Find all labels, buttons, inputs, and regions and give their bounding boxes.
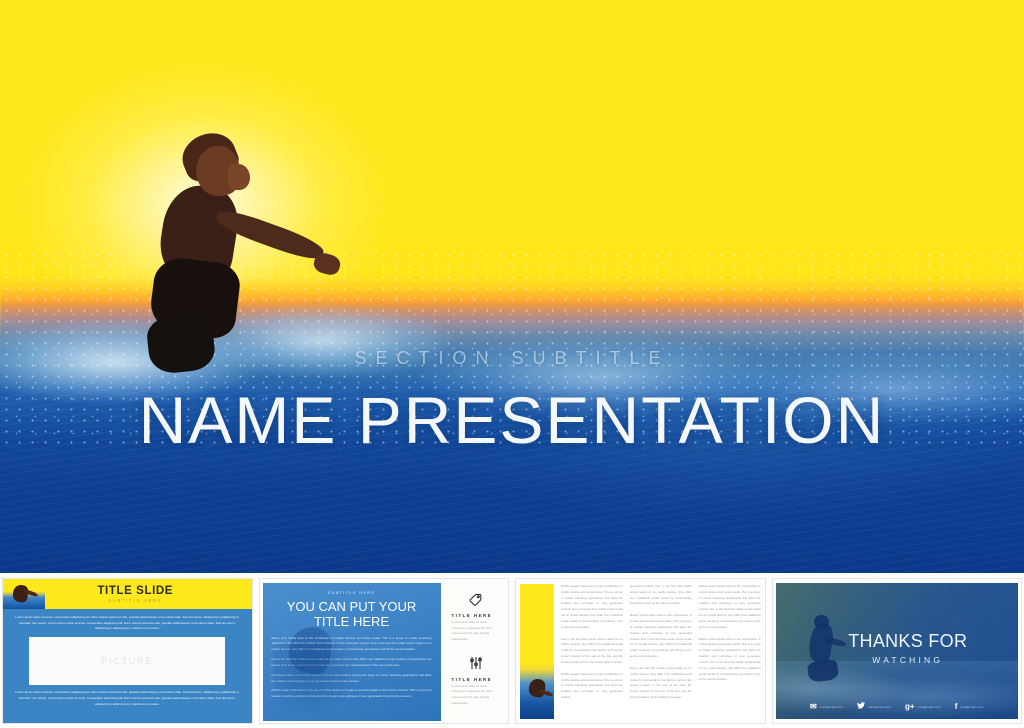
tag-icon <box>452 589 500 609</box>
surfer-thumb-icon <box>3 579 45 609</box>
column-paragraph: Due to the fact that mobile social media… <box>561 637 623 666</box>
thumbnail-thanks-slide[interactable]: THANKS FOR WATCHING ✉ mail@mail.com mail… <box>772 578 1023 724</box>
yellow-sidebar <box>520 584 554 719</box>
feature-card-text: Lorem ipsum dolor sit amet, consectetur … <box>452 684 500 707</box>
content-paragraph: Mobile social media refers to the use of… <box>272 688 432 700</box>
surfer-watermark-icon <box>286 624 334 675</box>
presentation-template-preview: SECTION SUBTITLE NAME PRESENTATION TITLE… <box>0 0 1024 728</box>
column-paragraph: Mobile social media refers to the combin… <box>561 672 623 701</box>
column-paragraph: Mobile social media refers to the combin… <box>561 584 623 631</box>
picture-placeholder[interactable]: PICTURE <box>29 637 225 685</box>
mail-icon: ✉ <box>810 703 817 711</box>
thanks-title: THANKS FOR <box>776 631 1019 652</box>
feature-card-text: Lorem ipsum dolor sit amet, consectetur … <box>452 620 500 643</box>
social-link-facebook[interactable]: f mail@mail.com <box>955 703 984 711</box>
thanks-slide-body: THANKS FOR WATCHING ✉ mail@mail.com mail… <box>776 583 1019 719</box>
text-column: Mobile social media refers to the combin… <box>561 584 623 719</box>
content-paragraph: Due to the fact that mobile social media… <box>272 657 432 669</box>
text-columns-body: Mobile social media refers to the combin… <box>516 579 765 723</box>
twitter-icon <box>857 702 865 711</box>
surfer-sidebar-icon <box>528 678 546 698</box>
content-slide-sidebar: TITLE HERE Lorem ipsum dolor sit amet, c… <box>445 583 507 721</box>
content-paragraph: Providing mobile social media devices su… <box>272 673 432 685</box>
title-slide-body: Lorem ipsum dolor sit amet, consectetur … <box>3 609 252 723</box>
text-column: generated content. Due to the fact that … <box>630 584 692 719</box>
column-paragraph: generated content. Due to the fact that … <box>630 584 692 607</box>
thumbnail-text-columns-slide[interactable]: Mobile social media refers to the combin… <box>515 578 766 724</box>
surfer-silhouette-icon <box>118 120 368 370</box>
content-slide-subtitle: SUBTITLE HERE <box>272 591 432 595</box>
title-slide-header: TITLE SLIDE SUBTITLE HERE <box>3 579 252 609</box>
feature-card[interactable]: TITLE HERE Lorem ipsum dolor sit amet, c… <box>452 589 500 643</box>
title-slide-subtitle: SUBTITLE HERE <box>45 598 226 603</box>
social-link-mail[interactable]: ✉ mail@mail.com <box>810 703 843 711</box>
title-slide-paragraph-top: Lorem ipsum dolor sit amet, consectetur … <box>13 615 242 632</box>
content-slide-title: YOU CAN PUT YOUR TITLE HERE <box>272 599 432 630</box>
feature-card-heading: TITLE HERE <box>452 613 500 618</box>
social-links: ✉ mail@mail.com mail@mail.com g+ mail@ma… <box>776 702 1019 711</box>
thumbnail-content-slide[interactable]: SUBTITLE HERE YOU CAN PUT YOUR TITLE HER… <box>259 578 510 724</box>
title-slide-paragraph-bottom: Lorem ipsum dolor sit amet, consectetur … <box>13 690 242 707</box>
column-paragraph: Mobile social media refers to the combin… <box>699 584 761 631</box>
column-paragraph: Due to the fact that mobile social media… <box>630 666 692 701</box>
content-paragraph: Below your media drive to the introducti… <box>272 636 432 653</box>
column-paragraph: Mobile social media refers to the combin… <box>630 613 692 660</box>
column-paragraph: Mobile social media refers to the combin… <box>699 637 761 684</box>
thanks-subtitle: WATCHING <box>776 655 1019 665</box>
hero-slide[interactable]: SECTION SUBTITLE NAME PRESENTATION <box>0 0 1024 573</box>
google-plus-icon: g+ <box>905 703 915 711</box>
thumbnail-title-slide[interactable]: TITLE SLIDE SUBTITLE HERE Lorem ipsum do… <box>2 578 253 724</box>
hero-title: NAME PRESENTATION <box>0 382 1024 458</box>
slide-thumbnail-strip: TITLE SLIDE SUBTITLE HERE Lorem ipsum do… <box>0 578 1024 728</box>
social-label: mail@mail.com <box>960 705 983 709</box>
social-link-google-plus[interactable]: g+ mail@mail.com <box>905 703 941 711</box>
hero-subtitle: SECTION SUBTITLE <box>0 348 1024 369</box>
feature-card[interactable]: TITLE HERE Lorem ipsum dolor sit amet, c… <box>452 653 500 707</box>
sliders-icon <box>452 653 500 673</box>
title-slide-title: TITLE SLIDE <box>45 585 226 597</box>
facebook-icon: f <box>955 703 958 711</box>
social-label: mail@mail.com <box>868 705 891 709</box>
social-link-twitter[interactable]: mail@mail.com <box>857 702 891 711</box>
text-column: Mobile social media refers to the combin… <box>699 584 761 719</box>
content-slide-main: SUBTITLE HERE YOU CAN PUT YOUR TITLE HER… <box>263 583 441 721</box>
feature-card-heading: TITLE HERE <box>452 677 500 682</box>
surfer-silhouette-icon <box>806 615 840 689</box>
social-label: mail@mail.com <box>918 705 941 709</box>
social-label: mail@mail.com <box>820 705 843 709</box>
